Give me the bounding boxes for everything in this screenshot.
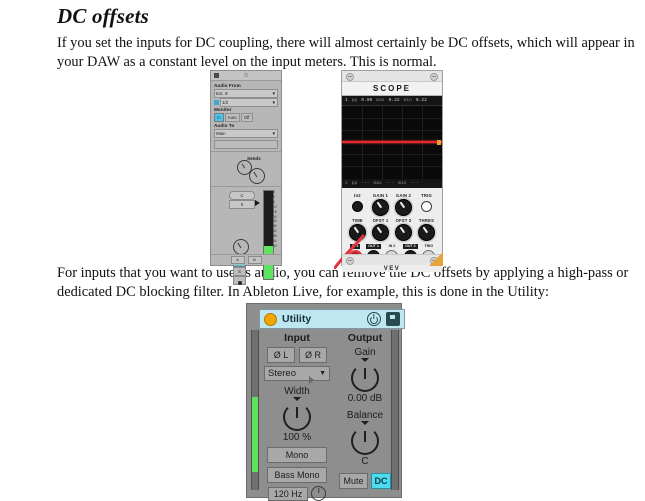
module-bottom-rail: [342, 254, 442, 265]
in2-knob[interactable]: [352, 201, 363, 212]
time-knob[interactable]: [349, 224, 366, 241]
record-dot-icon: [238, 281, 242, 285]
thres-control[interactable]: THRES: [416, 218, 438, 241]
send-b-knob[interactable]: [249, 168, 265, 184]
width-value: 100 %: [264, 432, 330, 443]
readout-pp-value: 0.00: [361, 96, 372, 105]
readout-min-value: ---: [410, 179, 418, 188]
gridline: [342, 166, 442, 167]
mute-button[interactable]: Mute: [339, 473, 368, 489]
knob-row-bottom: TIME OFST 1 OFST 2 THRES: [342, 216, 442, 241]
crossfade-b-button[interactable]: B: [248, 256, 262, 264]
chevron-down-icon: ▼: [319, 367, 326, 380]
module-top-rail: [342, 71, 442, 82]
scope-display[interactable]: [342, 106, 442, 179]
input-column: Input Ø L Ø R Stereo ▼ Width 100 % Mono …: [261, 331, 333, 493]
dc-filter-button[interactable]: DC: [371, 473, 391, 489]
time-label: TIME: [352, 218, 363, 223]
trig-label: TRIG: [421, 193, 432, 198]
gridline: [342, 118, 442, 119]
gain2-knob[interactable]: [395, 199, 412, 216]
readout-pp-label: pp: [352, 96, 358, 105]
device-title: Utility: [282, 313, 362, 325]
pan-control[interactable]: C: [229, 191, 255, 200]
screw-icon: [346, 73, 354, 81]
chevron-down-icon: ▼: [272, 131, 276, 137]
screw-icon: [430, 73, 438, 81]
gain1-label: GAIN 1: [373, 193, 388, 198]
sends-label: Sends: [247, 156, 261, 161]
grid-icon: [214, 73, 219, 78]
gain-knob[interactable]: [351, 364, 379, 392]
microphone-icon: ☃: [243, 73, 248, 79]
brand-label: VEV: [342, 266, 442, 272]
input-indicator-icon: [214, 100, 219, 105]
trace-cursor-marker: [437, 140, 441, 145]
chevron-down-icon: ▼: [272, 91, 276, 97]
ofst1-knob[interactable]: [372, 224, 389, 241]
input-header: Input: [264, 332, 330, 344]
scale-mark: 60: [273, 244, 281, 249]
in2-control[interactable]: In2: [347, 193, 369, 212]
time-control[interactable]: TIME: [347, 218, 369, 241]
channel-mode-value: Stereo: [268, 367, 296, 380]
utility-body: Input Ø L Ø R Stereo ▼ Width 100 % Mono …: [261, 331, 387, 493]
fader-handle[interactable]: [255, 200, 260, 206]
gain-label: Gain: [339, 347, 391, 358]
phase-left-button[interactable]: Ø L: [267, 347, 295, 363]
input-channel-select[interactable]: 1/2 ▼: [220, 98, 278, 107]
readout-min-label: min: [404, 96, 412, 105]
save-preset-icon[interactable]: [386, 312, 400, 326]
scope-readout-ch1: 1 pp 0.00 max 0.22 min 0.22: [342, 96, 442, 106]
thres-knob[interactable]: [418, 224, 435, 241]
knob-row-top: In2 GAIN 1 GAIN 2 TRIG: [342, 191, 442, 216]
gain-value: 0.00 dB: [339, 393, 391, 404]
bass-mono-frequency-value[interactable]: 120 Hz: [268, 487, 308, 501]
balance-value: C: [339, 456, 391, 467]
ofst1-label: OFST 1: [373, 218, 389, 223]
power-icon[interactable]: [367, 312, 381, 326]
ableton-utility-device: Utility Input Ø L Ø R Stereo ▼: [246, 303, 402, 498]
mono-button[interactable]: Mono: [267, 447, 327, 463]
audio-from-select[interactable]: Ext. In ▼: [214, 89, 278, 98]
utility-title-bar[interactable]: Utility: [259, 309, 405, 329]
vev-scope-module: SCOPE 1 pp 0.00 max 0.22 min 0.22 2 pp -…: [341, 70, 443, 266]
readout-max-value: ---: [386, 179, 394, 188]
ofst2-knob[interactable]: [395, 224, 412, 241]
scope-readout-ch2: 2 pp --- max --- min ---: [342, 179, 442, 188]
sends-section: Sends: [211, 151, 281, 187]
solo-button[interactable]: S: [233, 267, 246, 276]
trig-jack-label: TRIG: [422, 244, 435, 249]
trig-led-control[interactable]: TRIG: [416, 193, 438, 212]
strip-header: ☃: [211, 71, 281, 81]
gain2-label: GAIN 2: [396, 193, 411, 198]
gain2-control[interactable]: GAIN 2: [393, 193, 415, 216]
device-activator-icon[interactable]: [264, 313, 277, 326]
output-column: Output Gain 0.00 dB Balance C Mute DC: [337, 331, 393, 493]
gain1-knob[interactable]: [372, 199, 389, 216]
ofst2-control[interactable]: OFST 2: [393, 218, 415, 241]
ofst2-label: OFST 2: [396, 218, 412, 223]
monitor-auto-button[interactable]: Auto: [225, 113, 240, 122]
trig-led-icon: [421, 201, 432, 212]
waveform-trace-dc-offset: [342, 141, 442, 143]
input-meter-track: [251, 330, 259, 490]
output-header: Output: [339, 332, 391, 344]
bass-mono-button[interactable]: Bass Mono: [267, 467, 327, 483]
record-arm-button[interactable]: [233, 276, 246, 285]
in1-label: IN 1: [350, 244, 361, 249]
readout-max-label: max: [376, 96, 384, 105]
balance-knob[interactable]: [351, 427, 379, 455]
corner-accent: [429, 252, 443, 266]
width-knob-pointer-icon: [293, 397, 301, 401]
monitor-off-button[interactable]: Off: [241, 113, 253, 122]
gridline: [342, 154, 442, 155]
device-chain-arrow-icon: [309, 376, 314, 384]
balance-knob-pointer-icon: [361, 421, 369, 425]
mixer-section: C 0 6 0 6 12 18 24 30 36 42 48 54 60 2: [211, 187, 281, 287]
ofst1-control[interactable]: OFST 1: [370, 218, 392, 241]
track-pan-knob[interactable]: [233, 239, 249, 255]
routing-section: Audio From Ext. In ▼ 1/2 ▼ Monitor In Au…: [211, 81, 281, 151]
width-knob[interactable]: [283, 403, 311, 431]
audio-to-value: Main: [216, 131, 226, 137]
audio-to-select[interactable]: Main ▼: [214, 129, 278, 138]
output-toggle-row: Mute DC: [339, 473, 391, 489]
readout-min-value: 0.22: [416, 96, 427, 105]
readout-pp-value: ---: [361, 179, 369, 188]
input-channel-value: 1/2: [222, 100, 228, 106]
gain-knob-pointer-icon: [361, 358, 369, 362]
readout-max-value: 0.22: [389, 96, 400, 105]
input-channel-row[interactable]: 1/2 ▼: [214, 99, 278, 106]
strip-footer: A B: [211, 254, 281, 265]
in2-label: IN 2: [387, 244, 398, 249]
balance-label: Balance: [339, 410, 391, 421]
phase-right-button[interactable]: Ø R: [299, 347, 327, 363]
spacer: [273, 73, 278, 78]
volume-value[interactable]: 0: [229, 200, 255, 209]
scope-title: SCOPE: [342, 82, 442, 96]
monitor-in-button[interactable]: In: [214, 113, 224, 122]
page-root: DC offsets If you set the inputs for DC …: [0, 0, 645, 499]
in2-label: In2: [354, 193, 361, 198]
monitor-button-group: In Auto Off: [214, 113, 278, 122]
page-title: DC offsets: [57, 4, 149, 29]
readout-channel: 1: [345, 96, 348, 105]
gridline: [342, 130, 442, 131]
audio-from-value: Ext. In: [216, 91, 228, 97]
paragraph-intro: If you set the inputs for DC coupling, t…: [57, 34, 635, 71]
channel-mode-select[interactable]: Stereo ▼: [264, 366, 330, 381]
input-meter-fill: [252, 397, 258, 472]
width-label: Width: [264, 386, 330, 397]
thres-label: THRES: [419, 218, 434, 223]
phase-buttons: Ø L Ø R: [264, 347, 330, 363]
gain1-control[interactable]: GAIN 1: [370, 193, 392, 216]
chevron-down-icon: ▼: [272, 100, 276, 106]
out2-label: OUT 2: [403, 244, 418, 249]
crossfade-a-button[interactable]: A: [231, 256, 245, 264]
readout-channel: 2: [345, 179, 348, 188]
readout-max-label: max: [374, 179, 382, 188]
out1-label: OUT 1: [366, 244, 381, 249]
readout-pp-label: pp: [352, 179, 358, 188]
screw-icon: [346, 257, 354, 265]
daw-channel-strip: ☃ Audio From Ext. In ▼ 1/2 ▼ Monitor In …: [210, 70, 282, 266]
readout-min-label: min: [398, 179, 406, 188]
input-meter-left: [248, 330, 260, 490]
clip-slot[interactable]: [214, 140, 278, 149]
